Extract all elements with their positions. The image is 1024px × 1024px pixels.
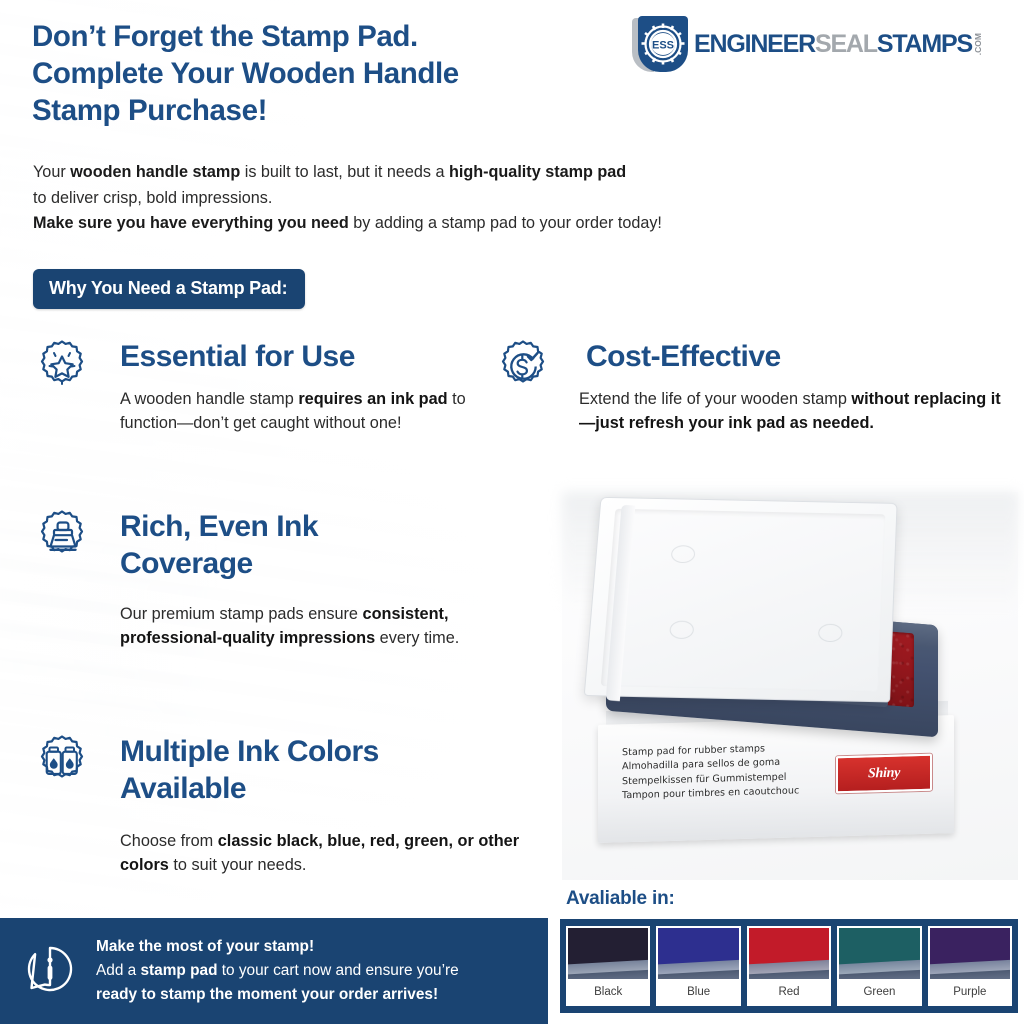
intro-paragraph: Your wooden handle stamp is built to las… <box>33 160 893 237</box>
footer-line-1: Make the most of your stamp! <box>96 935 459 959</box>
footer-line-2: Add a stamp pad to your cart now and ens… <box>96 959 459 983</box>
available-in-title: Avaliable in: <box>566 888 675 910</box>
product-photo: Stamp pad for rubber stamps Almohadilla … <box>562 492 1018 880</box>
feature-title: Multiple Ink Colors Available <box>120 733 533 807</box>
page-header: Don’t Forget the Stamp Pad. Complete You… <box>32 18 662 129</box>
feature-multiple-ink-colors: Multiple Ink Colors Available Choose fro… <box>33 733 533 877</box>
color-swatch-purple[interactable]: Purple <box>928 926 1012 1006</box>
swatch-label: Green <box>839 979 919 1004</box>
swatch-color-fill <box>749 928 829 979</box>
feature-body: Choose from classic black, blue, red, gr… <box>120 829 550 877</box>
feature-title: Cost-Effective <box>586 338 1019 375</box>
swatch-label: Red <box>749 979 829 1004</box>
swatch-color-fill <box>658 928 738 979</box>
feature-rich-even-ink-coverage: Rich, Even Ink Coverage Our premium stam… <box>33 508 495 650</box>
intro-line3-rest: by adding a stamp pad to your order toda… <box>349 214 662 232</box>
color-swatch-blue[interactable]: Blue <box>656 926 740 1006</box>
footer-line-3: ready to stamp the moment your order arr… <box>96 983 459 1007</box>
shiny-brand-logo: Shiny <box>836 754 932 794</box>
swatch-label: Purple <box>930 979 1010 1004</box>
feature-body: Our premium stamp pads ensure consistent… <box>120 602 490 650</box>
badge-ink-bottles-icon <box>33 733 91 791</box>
footer-line3-bold: ready to stamp the moment your order arr… <box>96 986 438 1003</box>
stamp-pad-lid <box>584 497 898 703</box>
infographic-page: Don’t Forget the Stamp Pad. Complete You… <box>0 0 1024 1024</box>
shiny-brand-name: Shiny <box>868 765 900 782</box>
swatch-label: Black <box>568 979 648 1004</box>
feature-body-a: Our premium stamp pads ensure <box>120 605 363 623</box>
swatch-color-fill <box>568 928 648 979</box>
color-swatch-black[interactable]: Black <box>566 926 650 1006</box>
swatch-color-fill <box>930 928 1010 979</box>
badge-dollar-check-icon <box>494 338 552 396</box>
logo-word-engineer: ENGINEER <box>694 32 815 57</box>
lid-mold-mark <box>669 621 694 640</box>
headline-line-3: Stamp Purchase! <box>32 94 267 127</box>
feature-body: Extend the life of your wooden stamp wit… <box>579 387 1011 435</box>
logo-word-seal: SEAL <box>815 32 877 57</box>
intro-line1-bold2: high-quality stamp pad <box>449 163 626 181</box>
feature-body-bold: requires an ink pad <box>298 390 447 408</box>
section-banner: Why You Need a Stamp Pad: <box>33 269 305 309</box>
feature-body-c: to suit your needs. <box>169 856 307 874</box>
headline-line-1: Don’t Forget the Stamp Pad. <box>32 20 418 53</box>
intro-line1-a: Your <box>33 163 70 181</box>
footer-line2-a: Add a <box>96 962 141 979</box>
badge-stamp-icon <box>33 508 91 566</box>
logo-word-stamps: STAMPS <box>877 32 972 57</box>
ess-shield-icon: ESS <box>632 16 688 72</box>
brand-logo[interactable]: ESS ENGINEER SEAL STAMPS .COM <box>632 16 1018 72</box>
feature-title-line-1: Multiple Ink Colors <box>120 735 379 768</box>
color-swatch-group: Black Blue Red Green <box>560 919 1018 1013</box>
page-title: Don’t Forget the Stamp Pad. Complete You… <box>32 18 662 129</box>
lid-inner-surface <box>601 509 886 692</box>
footer-cta-bar: Make the most of your stamp! Add a stamp… <box>0 918 548 1024</box>
footer-cta-text: Make the most of your stamp! Add a stamp… <box>96 935 469 1007</box>
feature-body-a: A wooden handle stamp <box>120 390 298 408</box>
intro-line3-bold: Make sure you have everything you need <box>33 214 349 232</box>
lid-mold-mark <box>818 624 843 643</box>
feature-essential-for-use: Essential for Use A wooden handle stamp … <box>33 338 495 435</box>
feature-body-a: Choose from <box>120 832 218 850</box>
feature-title-line-2: Coverage <box>120 547 253 580</box>
logo-wordmark: ENGINEER SEAL STAMPS .COM <box>694 32 982 57</box>
lid-mold-mark <box>671 545 696 563</box>
badge-star-icon <box>33 338 91 396</box>
color-swatch-green[interactable]: Green <box>837 926 921 1006</box>
info-bubble-icon <box>24 943 76 1000</box>
feature-title-line-2: Available <box>120 772 246 805</box>
intro-line2: to deliver crisp, bold impressions. <box>33 189 272 207</box>
feature-cost-effective: Cost-Effective Extend the life of your w… <box>494 338 1019 435</box>
feature-title: Rich, Even Ink Coverage <box>120 508 495 582</box>
svg-text:ESS: ESS <box>652 40 674 52</box>
intro-line1-c: is built to last, but it needs a <box>240 163 449 181</box>
section-banner-label: Why You Need a Stamp Pad: <box>49 278 287 298</box>
feature-body-c: every time. <box>375 629 459 647</box>
feature-body-a: Extend the life of your wooden stamp <box>579 390 851 408</box>
headline-line-2: Complete Your Wooden Handle <box>32 57 459 90</box>
color-swatch-red[interactable]: Red <box>747 926 831 1006</box>
footer-line2-c: to your cart now and ensure you’re <box>217 962 458 979</box>
feature-title-line-1: Rich, Even Ink <box>120 510 318 543</box>
feature-body: A wooden handle stamp requires an ink pa… <box>120 387 495 435</box>
swatch-color-fill <box>839 928 919 979</box>
swatch-label: Blue <box>658 979 738 1004</box>
carton-multilingual-text: Stamp pad for rubber stamps Almohadilla … <box>622 740 832 803</box>
logo-dotcom: .COM <box>974 33 983 55</box>
footer-line2-bold: stamp pad <box>141 962 218 979</box>
feature-title: Essential for Use <box>120 338 495 375</box>
intro-line1-bold: wooden handle stamp <box>70 163 240 181</box>
